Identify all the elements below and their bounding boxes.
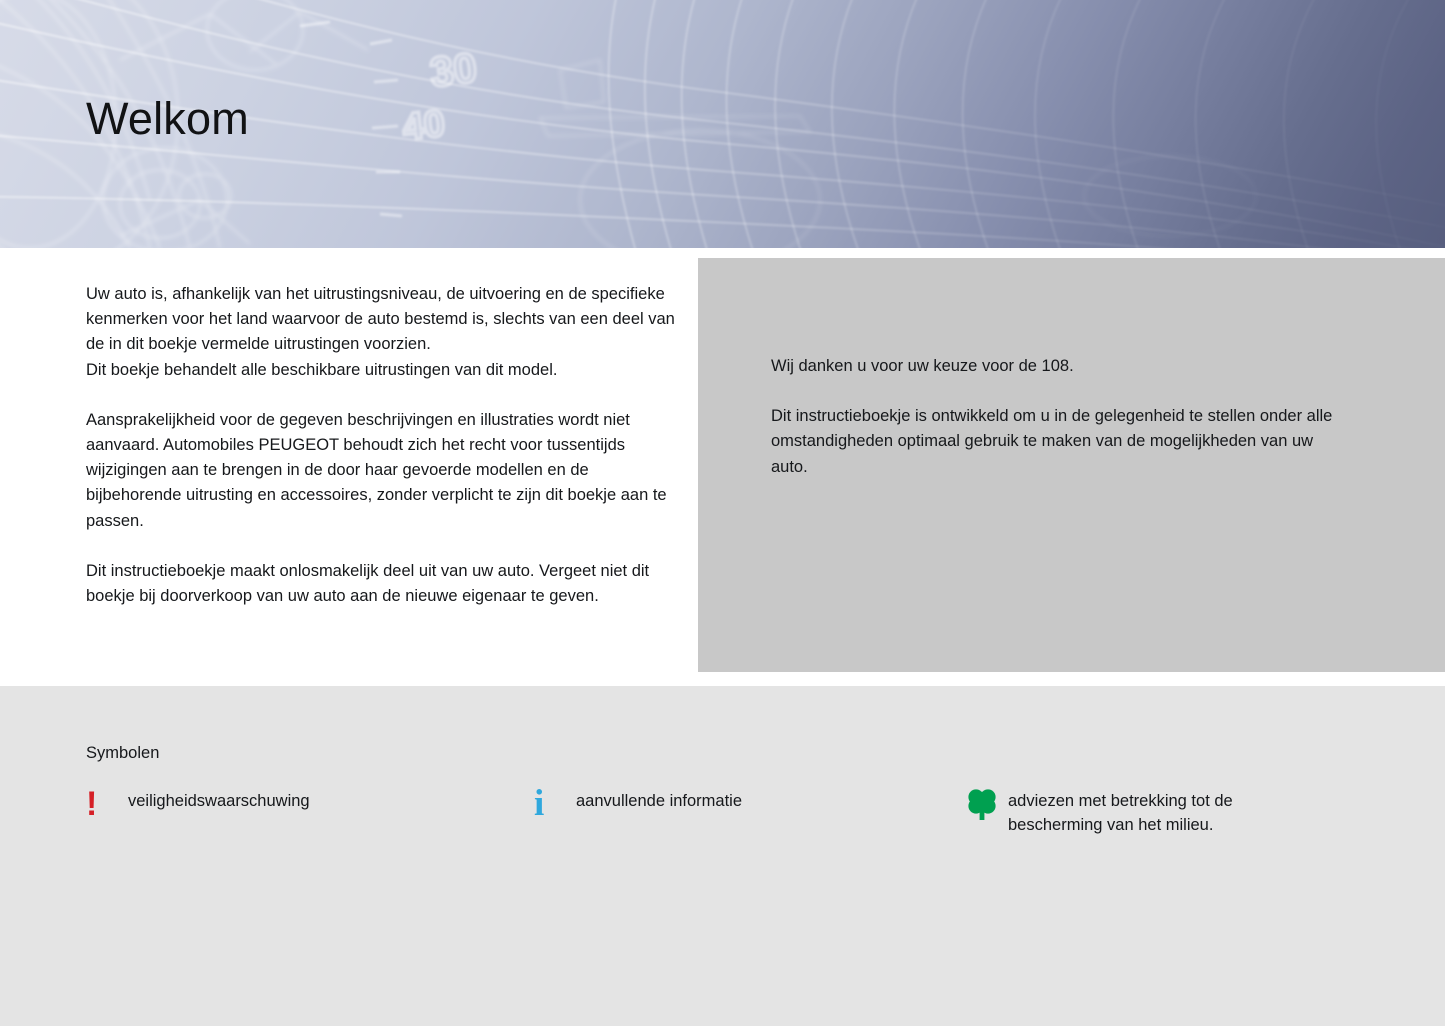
information-i-glyph: i	[534, 787, 544, 821]
tree-icon-shape	[966, 786, 998, 822]
header-banner: 30 40 Welkom	[0, 0, 1445, 248]
exclamation-mark-icon: !	[86, 784, 128, 824]
thanks-panel: Wij danken u voor uw keuze voor de 108. …	[698, 258, 1445, 672]
exclamation-mark-glyph: !	[86, 787, 97, 821]
intro-paragraph-1: Uw auto is, afhankelijk van het uitrusti…	[86, 282, 676, 358]
intro-text-column: Uw auto is, afhankelijk van het uitrusti…	[86, 282, 676, 609]
thanks-paragraph-1: Wij danken u voor uw keuze voor de 108.	[771, 354, 1341, 379]
content-area: Uw auto is, afhankelijk van het uitrusti…	[0, 248, 1445, 686]
symbol-item-warning: ! veiligheidswaarschuwing	[86, 784, 310, 824]
symbol-item-environment: adviezen met betrekking tot de beschermi…	[966, 784, 1233, 837]
paragraph-spacer	[86, 383, 676, 408]
intro-paragraph-4: Dit instructieboekje maakt onlosmakelijk…	[86, 559, 676, 609]
thanks-panel-text: Wij danken u voor uw keuze voor de 108. …	[771, 354, 1341, 480]
symbol-label-warning: veiligheidswaarschuwing	[128, 784, 310, 813]
intro-paragraph-3: Aansprakelijkheid voor de gegeven beschr…	[86, 408, 676, 534]
gauge-number-30: 30	[427, 44, 479, 96]
symbol-label-environment: adviezen met betrekking tot de beschermi…	[1008, 784, 1233, 837]
tree-icon	[966, 784, 1008, 824]
symbol-item-information: i aanvullende informatie	[534, 784, 742, 824]
symbol-label-information: aanvullende informatie	[576, 784, 742, 813]
symbols-heading: Symbolen	[86, 744, 159, 763]
gauge-number-40: 40	[401, 103, 447, 149]
page-title: Welkom	[86, 96, 249, 141]
paragraph-spacer	[771, 379, 1341, 404]
thanks-paragraph-2: Dit instructieboekje is ontwikkeld om u …	[771, 404, 1341, 480]
intro-paragraph-2: Dit boekje behandelt alle beschikbare ui…	[86, 358, 676, 383]
symbols-section: Symbolen ! veiligheidswaarschuwing i aan…	[0, 686, 1445, 1026]
information-i-icon: i	[534, 784, 576, 824]
paragraph-spacer	[86, 534, 676, 559]
